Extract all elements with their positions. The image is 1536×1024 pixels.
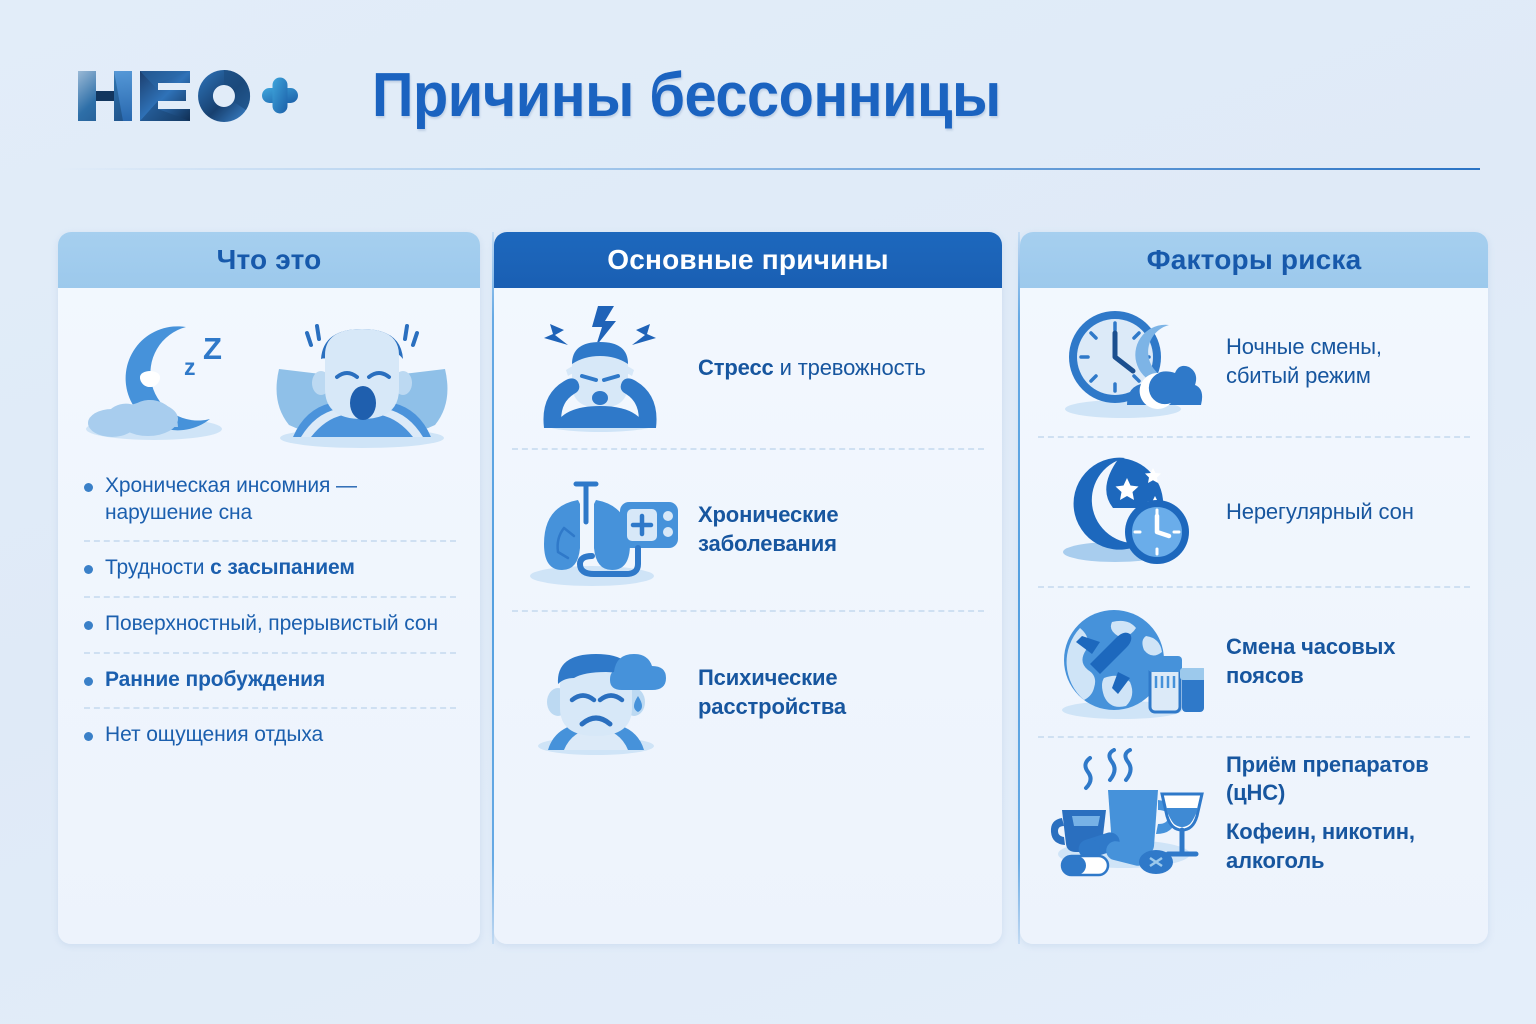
bullet-dot-icon	[84, 732, 93, 741]
bullet-dot-icon	[84, 565, 93, 574]
moon-stars-clock-icon	[1044, 452, 1212, 572]
card-what-is-it: Что это Z z	[58, 232, 480, 944]
neo-plus-logo	[74, 64, 302, 128]
card-header-what-is-it: Что это	[58, 232, 480, 288]
neo-plus-logo-icon	[74, 63, 302, 129]
stressed-head-lightning-icon	[516, 302, 684, 434]
svg-text:Z: Z	[203, 331, 222, 366]
risk-label-4: Приём препаратов (цНС) Кофеин, никотин, …	[1226, 751, 1464, 875]
what-is-it-bullet-list: Хроническая инсомния — нарушение сна Тру…	[58, 460, 480, 763]
column-risk-factors: Факторы риска	[1020, 232, 1488, 944]
list-item[interactable]: Смена часовых поясов	[1038, 588, 1470, 738]
bullet-label-4: Ранние пробуждения	[105, 667, 325, 694]
list-item[interactable]: Ночные смены, сбитый режим	[1038, 288, 1470, 438]
risk-label-1: Ночные смены, сбитый режим	[1226, 333, 1382, 390]
bullet-label-1: Хроническая инсомния — нарушение сна	[105, 473, 456, 526]
page-header: Причины бессонницы	[0, 0, 1536, 172]
bullet-dot-icon	[84, 677, 93, 686]
card-body-main-causes: Стресс и тревожность	[494, 288, 1002, 944]
cause-label-3: Психические расстройства	[698, 664, 980, 721]
list-item[interactable]: Психические расстройства	[512, 612, 984, 774]
list-item[interactable]: Стресс и тревожность	[512, 288, 984, 450]
column-main-causes: Основные причины	[494, 232, 1002, 944]
sad-person-rain-cloud-icon	[516, 628, 684, 758]
risk-factors-list: Ночные смены, сбитый режим	[1020, 288, 1488, 888]
list-item[interactable]: Нет ощущения отдыха	[84, 709, 456, 763]
list-item[interactable]: Поверхностный, прерывистый сон	[84, 598, 456, 654]
card-body-risk-factors: Ночные смены, сбитый режим	[1020, 288, 1488, 944]
coffee-wine-pills-icon	[1044, 748, 1212, 878]
globe-plane-pills-icon	[1044, 602, 1212, 722]
card-risk-factors: Факторы риска	[1020, 232, 1488, 944]
cause-label-1: Стресс и тревожность	[698, 354, 926, 383]
risk-label-3: Смена часовых поясов	[1226, 633, 1464, 690]
card-body-what-is-it: Z z	[58, 288, 480, 944]
list-item[interactable]: Приём препаратов (цНС) Кофеин, никотин, …	[1038, 738, 1470, 888]
card-header-main-causes: Основные причины	[494, 232, 1002, 288]
risk-label-2: Нерегулярный сон	[1226, 498, 1414, 527]
what-is-it-illustration: Z z	[58, 288, 480, 460]
cause-label-2: Хронические заболевания	[698, 501, 980, 558]
list-item[interactable]: Нерегулярный сон	[1038, 438, 1470, 588]
clock-moon-night-shift-icon	[1044, 303, 1212, 421]
list-item[interactable]: Хроническая инсомния — нарушение сна	[84, 460, 456, 542]
bullet-label-3: Поверхностный, прерывистый сон	[105, 611, 438, 638]
columns-container: Что это Z z	[0, 232, 1536, 944]
bullet-dot-icon	[84, 621, 93, 630]
bullet-label-2: Трудности с засыпанием	[105, 555, 355, 582]
list-item[interactable]: Хронические заболевания	[512, 450, 984, 612]
column-what-is-it: Что это Z z	[58, 232, 480, 944]
list-item[interactable]: Трудности с засыпанием	[84, 542, 456, 598]
lungs-blood-pressure-monitor-icon	[516, 470, 684, 590]
card-header-risk-factors: Факторы риска	[1020, 232, 1488, 288]
bullet-dot-icon	[84, 483, 93, 492]
yawning-person-in-bed-icon	[267, 305, 457, 450]
main-causes-list: Стресс и тревожность	[494, 288, 1002, 774]
list-item[interactable]: Ранние пробуждения	[84, 654, 456, 710]
bullet-label-5: Нет ощущения отдыха	[105, 722, 323, 749]
card-main-causes: Основные причины	[494, 232, 1002, 944]
crescent-moon-zzz-icon: Z z	[82, 307, 257, 447]
header-divider	[56, 168, 1480, 170]
svg-text:z: z	[184, 354, 196, 380]
page-title: Причины бессонницы	[372, 60, 1001, 131]
